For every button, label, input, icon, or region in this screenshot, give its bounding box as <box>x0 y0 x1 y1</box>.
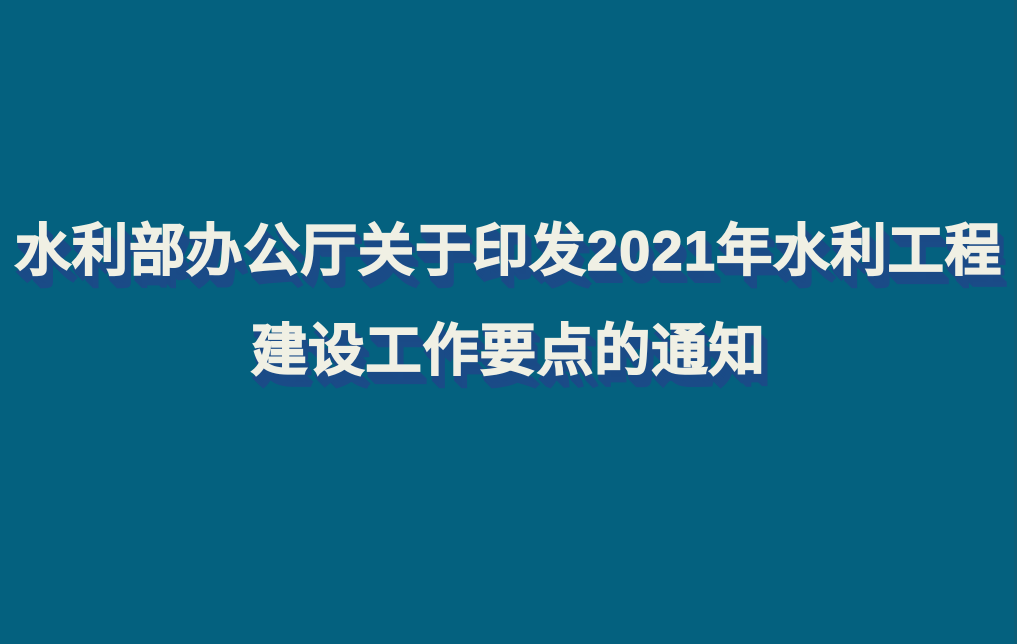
title-line-1: 水利部办公厅关于印发2021年水利工程 <box>0 223 1017 279</box>
title-banner: 水利部办公厅关于印发2021年水利工程 建设工作要点的通知 <box>0 0 1017 644</box>
title-block: 水利部办公厅关于印发2021年水利工程 建设工作要点的通知 <box>0 223 1017 379</box>
title-line-2: 建设工作要点的通知 <box>0 323 1017 379</box>
